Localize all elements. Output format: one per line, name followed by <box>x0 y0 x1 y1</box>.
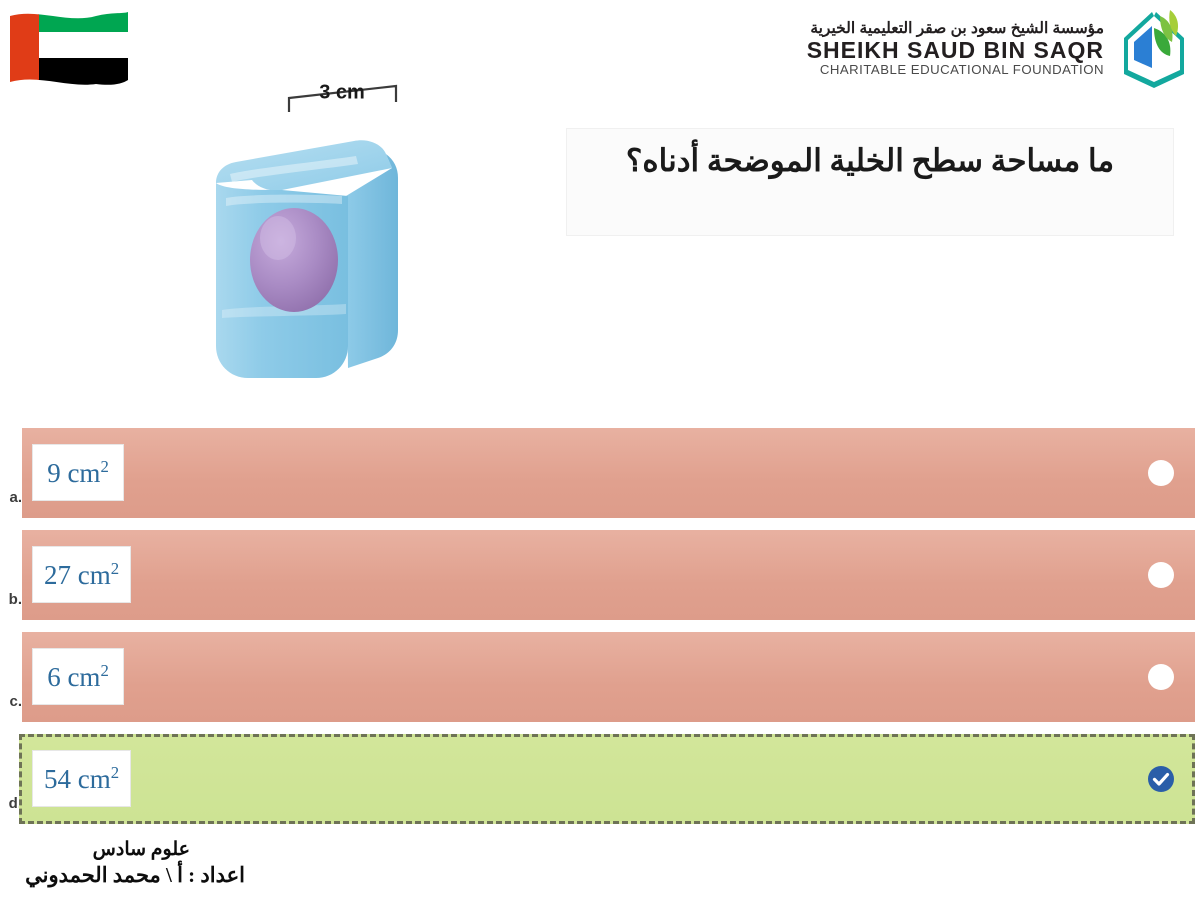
radio-unchecked-icon-a[interactable] <box>1148 460 1174 486</box>
question-panel: ما مساحة سطح الخلية الموضحة أدناه؟ <box>566 128 1174 236</box>
open-book-leaves-logo-icon <box>1114 8 1192 90</box>
page-header: مؤسسة الشيخ سعود بن صقر التعليمية الخيري… <box>0 0 1200 110</box>
option-value-a: 9 cm2 <box>47 457 109 489</box>
uae-flag-icon <box>8 6 130 98</box>
footer: علوم سادس اعداد : أ \ محمد الحمدوني <box>0 838 1200 889</box>
option-bar-b[interactable] <box>22 530 1195 620</box>
logo-english-subtitle: CHARITABLE EDUCATIONAL FOUNDATION <box>807 63 1104 77</box>
footer-author: اعداد : أ \ محمد الحمدوني <box>0 862 1200 889</box>
option-row-d[interactable]: d. 54 cm2 <box>0 734 1200 824</box>
radio-unchecked-icon-b[interactable] <box>1148 562 1174 588</box>
option-value-b: 27 cm2 <box>44 559 119 591</box>
cell-cube-diagram: 3 cm <box>186 78 436 408</box>
option-bar-d[interactable] <box>19 734 1195 824</box>
option-bar-a[interactable] <box>22 428 1195 518</box>
option-value-c: 6 cm2 <box>47 661 109 693</box>
option-letter-b: b. <box>2 591 22 608</box>
check-circle-icon-d[interactable] <box>1148 766 1174 792</box>
option-value-box-c: 6 cm2 <box>32 648 124 705</box>
option-bar-c[interactable] <box>22 632 1195 722</box>
option-row-a[interactable]: a. 9 cm2 <box>0 428 1200 518</box>
svg-text:3 cm: 3 cm <box>319 82 365 104</box>
checkmark-icon <box>1148 766 1174 792</box>
option-letter-c: c. <box>2 693 22 710</box>
option-value-box-b: 27 cm2 <box>32 546 131 603</box>
radio-unchecked-icon-c[interactable] <box>1148 664 1174 690</box>
option-row-c[interactable]: c. 6 cm2 <box>0 632 1200 722</box>
answer-options-list: a. 9 cm2 b. 27 cm2 c. 6 cm2 d. 54 cm2 <box>0 428 1200 836</box>
foundation-logo-text: مؤسسة الشيخ سعود بن صقر التعليمية الخيري… <box>807 21 1104 77</box>
footer-subject: علوم سادس <box>0 838 1200 862</box>
logo-english-name: SHEIKH SAUD BIN SAQR <box>807 38 1104 62</box>
option-row-b[interactable]: b. 27 cm2 <box>0 530 1200 620</box>
logo-arabic-name: مؤسسة الشيخ سعود بن صقر التعليمية الخيري… <box>807 21 1104 37</box>
option-value-box-d: 54 cm2 <box>32 750 131 807</box>
option-value-d: 54 cm2 <box>44 763 119 795</box>
option-value-box-a: 9 cm2 <box>32 444 124 501</box>
foundation-logo: مؤسسة الشيخ سعود بن صقر التعليمية الخيري… <box>807 6 1192 92</box>
question-text: ما مساحة سطح الخلية الموضحة أدناه؟ <box>626 143 1114 179</box>
option-letter-a: a. <box>2 489 22 506</box>
